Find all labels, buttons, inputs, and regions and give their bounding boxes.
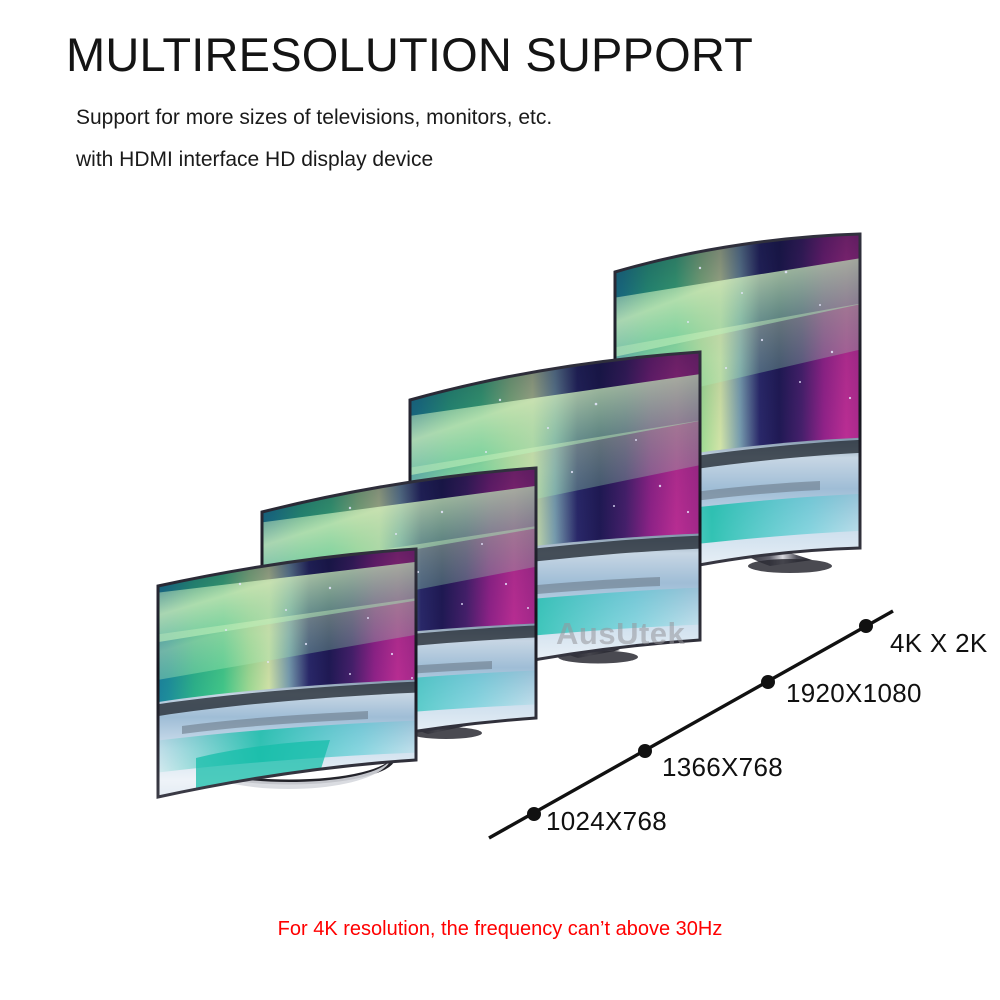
curved-tv-stack: [0, 0, 1000, 1000]
resolution-label-1920x1080: 1920X1080: [786, 678, 922, 709]
scale-dot-4k: [859, 619, 873, 633]
resolution-label-1366x768: 1366X768: [662, 752, 783, 783]
scale-dot-1366: [638, 744, 652, 758]
promo-slide: MULTIRESOLUTION SUPPORT Support for more…: [0, 0, 1000, 1000]
resolution-label-1024x768: 1024X768: [546, 806, 667, 837]
tv-smallest: [146, 538, 432, 814]
scale-dot-1920: [761, 675, 775, 689]
scale-dot-1024: [527, 807, 541, 821]
resolution-label-4k-x-2k: 4K X 2K: [890, 628, 988, 659]
frequency-warning-note: For 4K resolution, the frequency can’t a…: [0, 918, 1000, 941]
